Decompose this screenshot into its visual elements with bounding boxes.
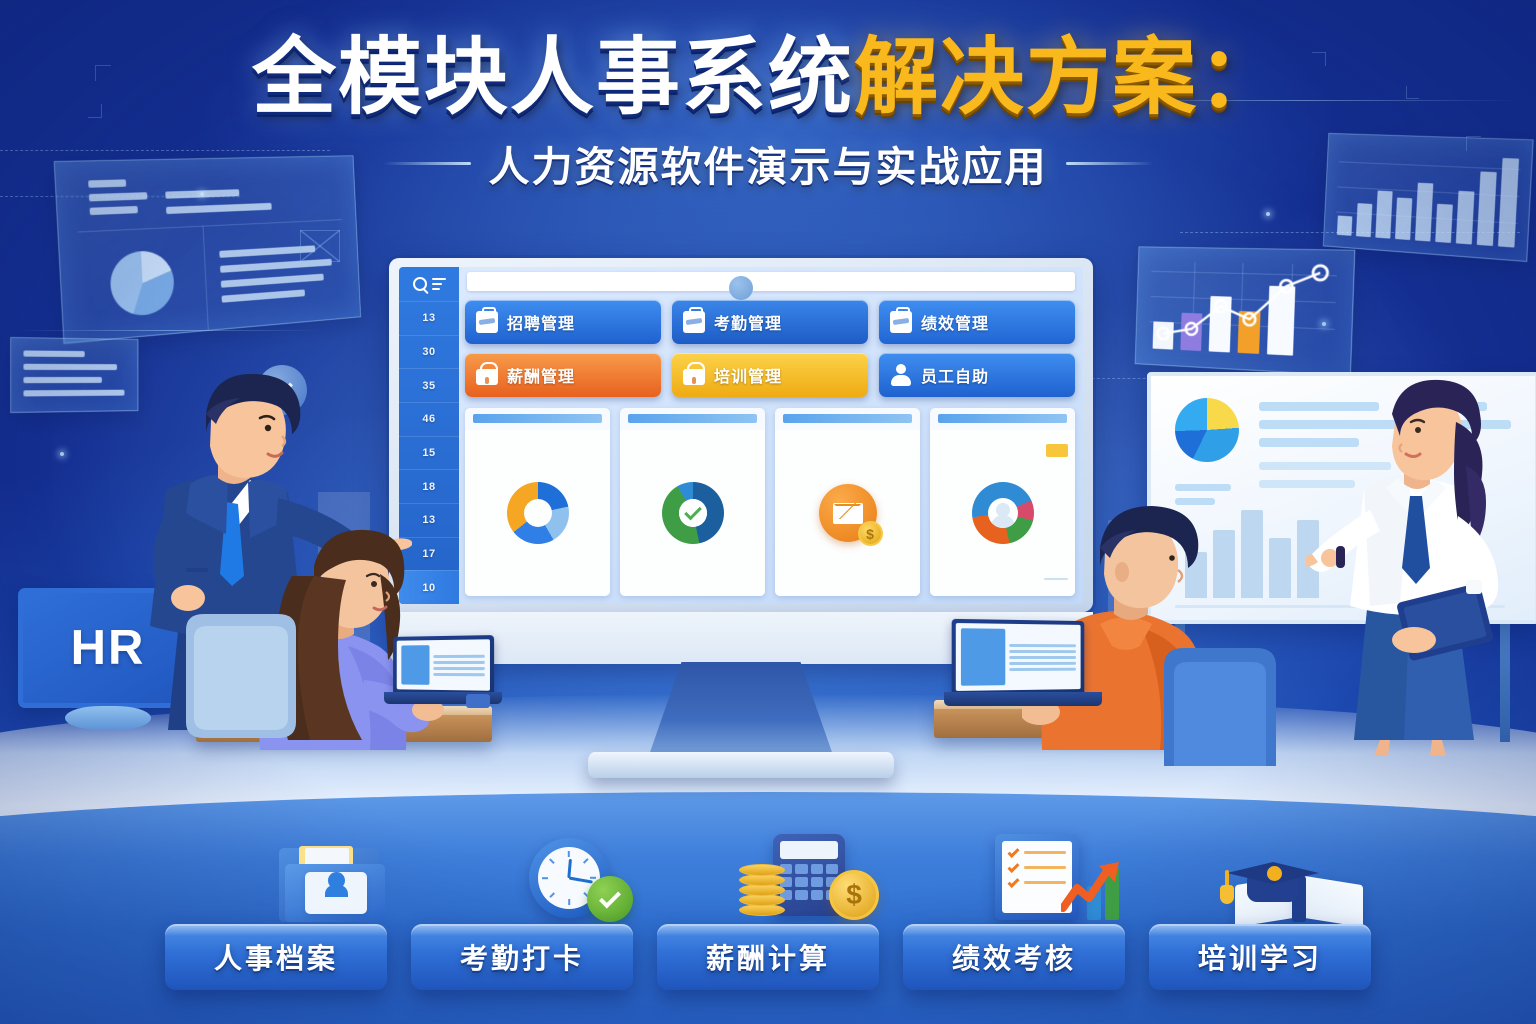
module-tile-label: 绩效管理: [921, 310, 989, 334]
dashboard-card[interactable]: $: [775, 408, 920, 596]
mortarboard-icon: [1227, 862, 1319, 896]
feature-plate[interactable]: 考勤打卡: [411, 924, 633, 990]
card-header: [620, 408, 765, 430]
dashboard-card[interactable]: [620, 408, 765, 596]
tag-icon: [1046, 444, 1068, 457]
floating-combo-chart-panel: [1135, 246, 1356, 376]
sidebar-item[interactable]: 13: [399, 301, 459, 335]
feature-plate[interactable]: 薪酬计算: [657, 924, 879, 990]
module-tile-training[interactable]: 培训管理: [672, 353, 868, 397]
card-header: [465, 408, 610, 430]
presenter-woman: [1306, 368, 1536, 758]
module-tile-self-service[interactable]: 员工自助: [879, 353, 1075, 397]
poster-title-block: 全模块人事系统解决方案： 人力资源软件演示与实战应用: [0, 34, 1536, 193]
feature-plate[interactable]: 绩效考核: [903, 924, 1125, 990]
briefcase-icon: [476, 311, 498, 333]
module-tile-grid: 招聘管理 考勤管理 绩效管理 薪酬管理: [465, 300, 1075, 397]
lock-icon: [683, 369, 705, 385]
briefcase-icon: [683, 311, 705, 333]
dollar-coin-icon: $: [829, 870, 879, 920]
clock-check-icon: [523, 830, 633, 922]
title-accent: 解决方案：: [854, 30, 1284, 124]
mobile-phone-left: [466, 694, 490, 708]
whiteboard-pie-chart: [1175, 398, 1239, 462]
feature-item[interactable]: 绩效考核: [903, 806, 1125, 990]
search-icon[interactable]: [413, 277, 427, 291]
combo-line-overlay: [1136, 247, 1357, 377]
floating-list-panel-left: [10, 337, 138, 413]
feature-plate[interactable]: 培训学习: [1149, 924, 1371, 990]
feature-label: 培训学习: [1198, 937, 1322, 977]
feature-item[interactable]: 人事档案: [165, 806, 387, 990]
person-icon: [890, 364, 912, 386]
dashboard-card[interactable]: [465, 408, 610, 596]
dashboard-card-grid: $: [465, 408, 1075, 596]
module-tile-attendance[interactable]: 考勤管理: [672, 300, 868, 344]
address-bar[interactable]: [467, 272, 1075, 291]
monitor-base: [588, 752, 894, 778]
office-chair-right: [1156, 646, 1282, 766]
module-tile-label: 考勤管理: [714, 310, 782, 334]
coin-stack-icon: [739, 860, 789, 916]
poster-canvas: 全模块人事系统解决方案： 人力资源软件演示与实战应用: [0, 0, 1536, 1024]
feature-item[interactable]: 培训学习: [1149, 806, 1371, 990]
feature-item[interactable]: $ 薪酬计算: [657, 806, 879, 990]
module-tile-label: 招聘管理: [507, 310, 575, 334]
donut-chart-icon: [507, 482, 569, 544]
module-tile-recruiting[interactable]: 招聘管理: [465, 300, 661, 344]
module-tile-label: 薪酬管理: [507, 363, 575, 387]
envelope-icon: [833, 503, 863, 524]
dollar-coin-icon: $: [858, 521, 883, 546]
calculator-coins-icon: $: [739, 830, 879, 922]
green-check-icon: [587, 876, 633, 922]
feature-label: 考勤打卡: [460, 937, 584, 977]
subtitle-rule-left: [383, 162, 471, 165]
monitor-logo-dot: [729, 276, 753, 300]
laptop-right: [944, 620, 1094, 716]
employee-folder-icon: [279, 840, 387, 922]
page-subtitle: 人力资源软件演示与实战应用: [489, 133, 1048, 193]
card-header: [775, 408, 920, 430]
feature-label: 人事档案: [214, 937, 338, 977]
main-monitor: 13 30 35 46 15 18 13 17 10: [389, 258, 1093, 612]
decor-spark: [60, 452, 64, 456]
lock-icon: [476, 369, 498, 385]
module-tile-payroll[interactable]: 薪酬管理: [465, 353, 661, 397]
hamburger-icon[interactable]: [432, 278, 446, 289]
growth-arrow-icon: [1061, 858, 1123, 914]
feature-label: 薪酬计算: [706, 937, 830, 977]
clipboard-chart-icon: [993, 830, 1125, 922]
monitor-screen: 13 30 35 46 15 18 13 17 10: [399, 267, 1083, 604]
module-tile-performance[interactable]: 绩效管理: [879, 300, 1075, 344]
module-tile-label: 培训管理: [714, 363, 782, 387]
subtitle-rule-right: [1066, 162, 1154, 165]
briefcase-icon: [890, 311, 912, 333]
page-title: 全模块人事系统解决方案：: [252, 34, 1284, 121]
card-header: [930, 408, 1075, 430]
feature-label: 绩效考核: [952, 937, 1076, 977]
feature-bar: 人事档案: [0, 806, 1536, 990]
donut-check-icon: [662, 482, 724, 544]
graduation-book-icon: [1221, 836, 1371, 922]
check-icon: [684, 503, 702, 521]
module-tile-label: 员工自助: [921, 363, 989, 387]
decor-x-box: [300, 230, 340, 262]
feature-plate[interactable]: 人事档案: [165, 924, 387, 990]
floating-pie-icon: [109, 250, 176, 318]
feature-item[interactable]: 考勤打卡: [411, 806, 633, 990]
office-chair-left: [176, 612, 306, 754]
mail-coin-icon: $: [819, 484, 877, 542]
decor-spark: [1266, 212, 1270, 216]
title-primary: 全模块人事系统: [252, 30, 854, 124]
